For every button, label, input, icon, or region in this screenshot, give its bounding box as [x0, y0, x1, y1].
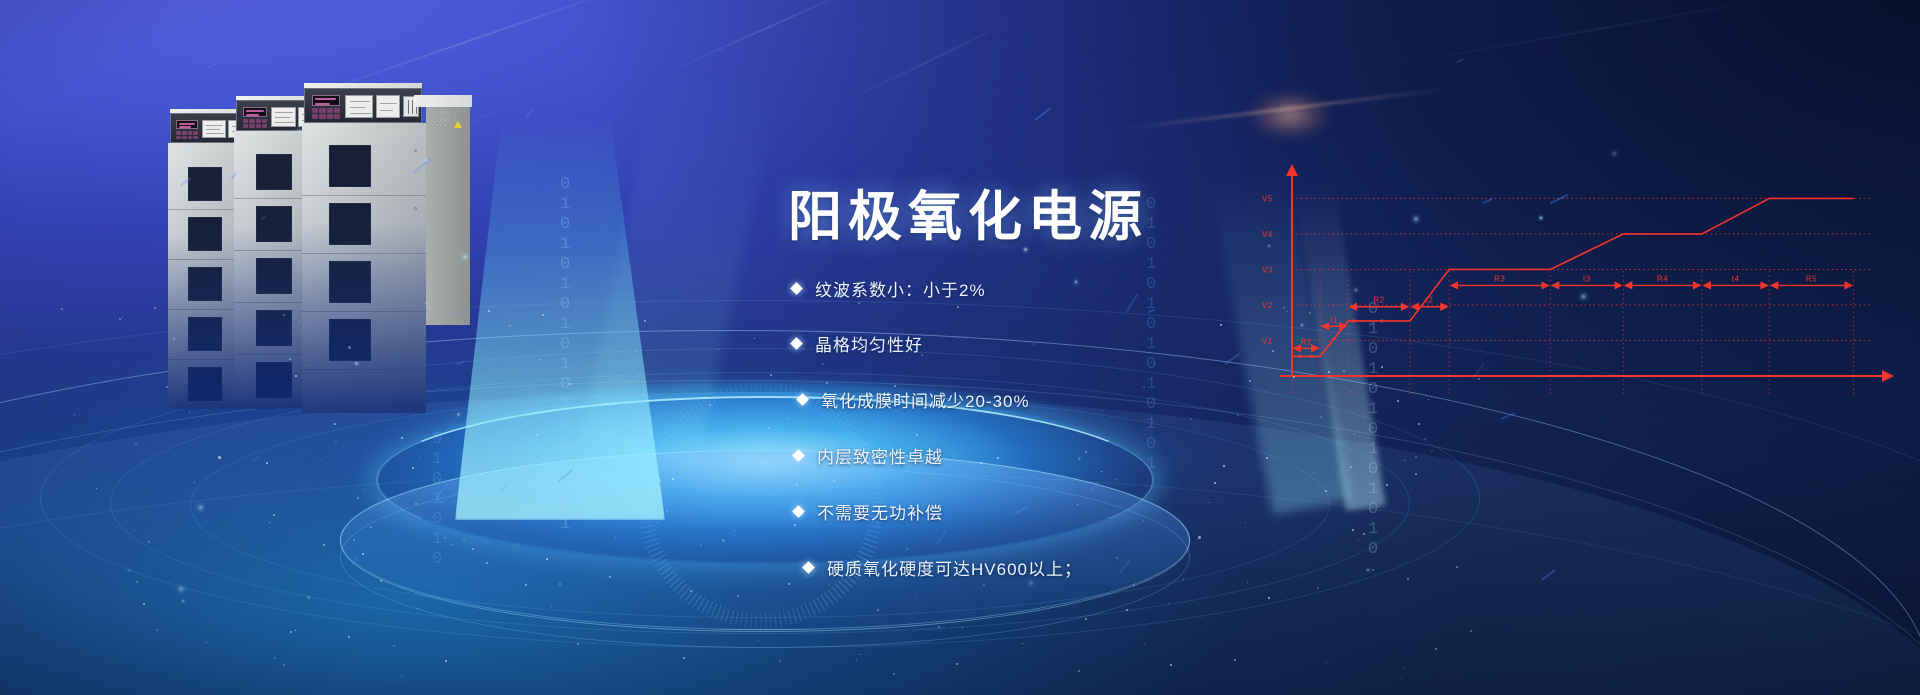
banner-canvas: 010101010101010101 01010101010101 010101…	[0, 0, 1920, 695]
background-vignette	[0, 0, 1920, 695]
